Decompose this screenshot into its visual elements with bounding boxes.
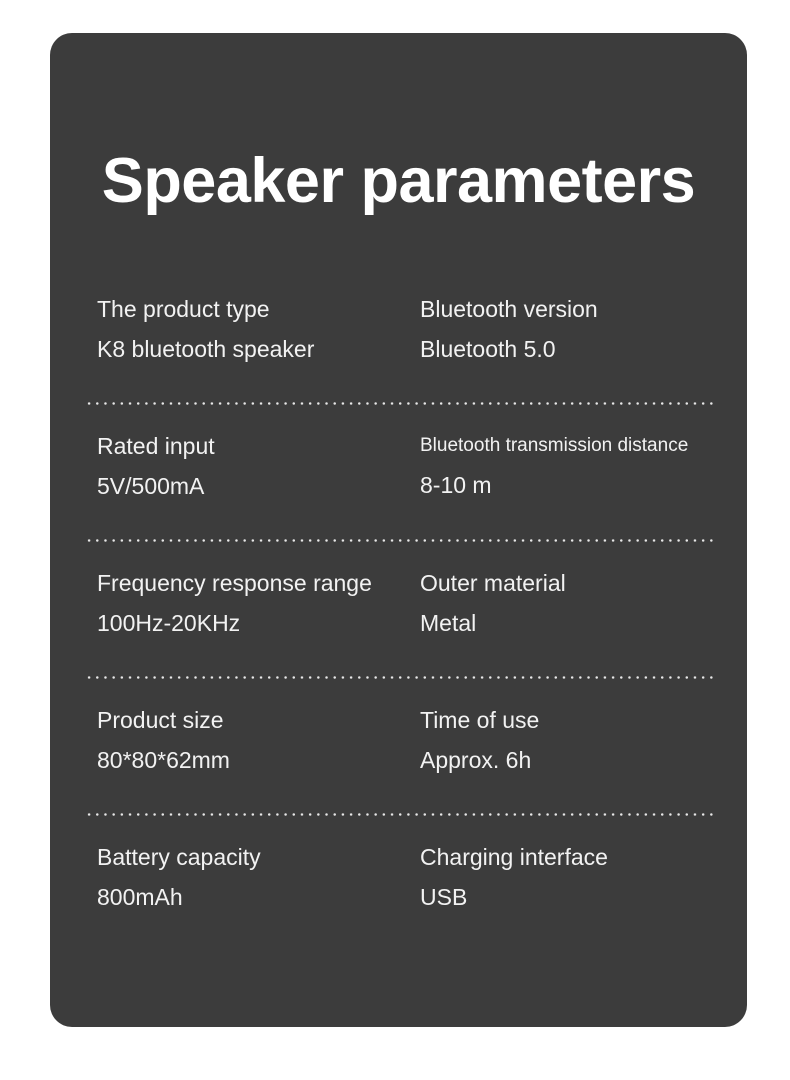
row-divider bbox=[85, 539, 715, 542]
spec-cell-frequency-response: Frequency response range 100Hz-20KHz bbox=[97, 569, 420, 638]
spec-label: Frequency response range bbox=[97, 569, 420, 598]
spec-label: Charging interface bbox=[420, 843, 720, 872]
spec-label: Bluetooth version bbox=[420, 295, 720, 324]
spec-value: K8 bluetooth speaker bbox=[97, 335, 420, 364]
spec-cell-charging-interface: Charging interface USB bbox=[420, 843, 720, 912]
spec-label: Rated input bbox=[97, 432, 420, 461]
spec-label: Product size bbox=[97, 706, 420, 735]
spec-value: 800mAh bbox=[97, 883, 420, 912]
spec-cell-rated-input: Rated input 5V/500mA bbox=[97, 432, 420, 501]
spec-label: The product type bbox=[97, 295, 420, 324]
spec-value: 80*80*62mm bbox=[97, 746, 420, 775]
page-title: Speaker parameters bbox=[50, 150, 747, 213]
table-row: Battery capacity 800mAh Charging interfa… bbox=[50, 843, 747, 963]
spec-cell-product-type: The product type K8 bluetooth speaker bbox=[97, 295, 420, 364]
table-row: Frequency response range 100Hz-20KHz Out… bbox=[50, 569, 747, 706]
spec-label: Outer material bbox=[420, 569, 720, 598]
spec-cell-battery-capacity: Battery capacity 800mAh bbox=[97, 843, 420, 912]
spec-cell-outer-material: Outer material Metal bbox=[420, 569, 720, 638]
spec-value: 8-10 m bbox=[420, 471, 720, 500]
spec-value: 100Hz-20KHz bbox=[97, 609, 420, 638]
spec-label: Bluetooth transmission distance bbox=[420, 432, 720, 459]
spec-cell-time-of-use: Time of use Approx. 6h bbox=[420, 706, 720, 775]
spec-cell-bluetooth-version: Bluetooth version Bluetooth 5.0 bbox=[420, 295, 720, 364]
table-row: Product size 80*80*62mm Time of use Appr… bbox=[50, 706, 747, 843]
spec-label: Time of use bbox=[420, 706, 720, 735]
table-row: The product type K8 bluetooth speaker Bl… bbox=[50, 295, 747, 432]
specifications-table: The product type K8 bluetooth speaker Bl… bbox=[50, 295, 747, 963]
spec-value: 5V/500mA bbox=[97, 472, 420, 501]
speaker-parameters-card: Speaker parameters The product type K8 b… bbox=[50, 33, 747, 1027]
row-divider bbox=[85, 813, 715, 816]
spec-label: Battery capacity bbox=[97, 843, 420, 872]
spec-value: Bluetooth 5.0 bbox=[420, 335, 720, 364]
spec-value: Approx. 6h bbox=[420, 746, 720, 775]
row-divider bbox=[85, 402, 715, 405]
spec-cell-transmission-distance: Bluetooth transmission distance 8-10 m bbox=[420, 432, 720, 500]
spec-value: Metal bbox=[420, 609, 720, 638]
row-divider bbox=[85, 676, 715, 679]
spec-value: USB bbox=[420, 883, 720, 912]
spec-cell-product-size: Product size 80*80*62mm bbox=[97, 706, 420, 775]
table-row: Rated input 5V/500mA Bluetooth transmiss… bbox=[50, 432, 747, 569]
